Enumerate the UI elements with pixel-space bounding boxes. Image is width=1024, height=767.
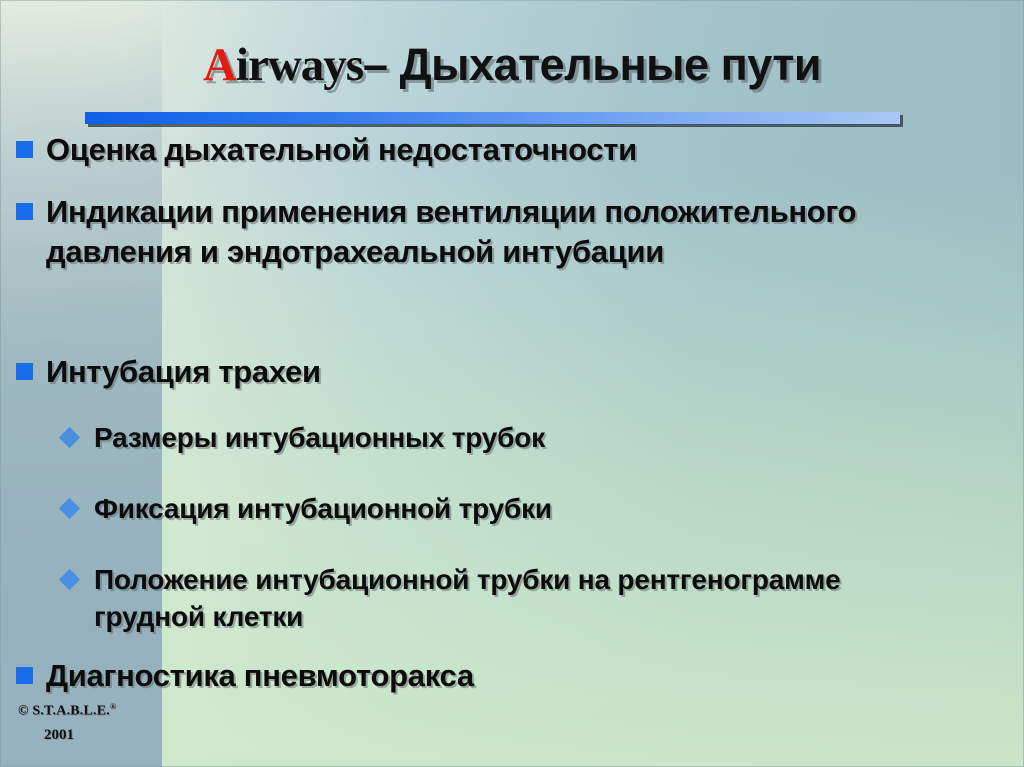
slide-canvas: Airways– Дыхательные пути Оценка дыхател… [0,0,1024,767]
list-item: Оценка дыхательной недостаточности [16,130,976,170]
sub-list-item-label: Размеры интубационных трубок [94,419,545,456]
sub-list-item: Размеры интубационных трубок [62,419,942,456]
list-item-label: Оценка дыхательной недостаточности [46,130,637,170]
square-bullet-icon [16,141,33,158]
sub-list-item-label: Положение интубационной трубки на рентге… [94,561,862,635]
sub-list-item: Фиксация интубационной трубки [62,490,942,527]
title-main-text: Дыхательные пути [400,39,821,90]
square-bullet-icon [16,203,33,220]
list-item-label: Диагностика пневмоторакса [46,656,474,696]
list-item-label: Индикации применения вентиляции положите… [46,192,946,273]
list-item: Индикации применения вентиляции положите… [16,192,946,273]
title-separator: – [363,39,388,90]
title-accent-letter: A [203,39,236,91]
diamond-bullet-icon [59,427,80,448]
copyright-line: © S.T.A.B.L.E.® [18,702,168,720]
title-accent-rest: irways [236,39,363,91]
copyright-name: S.T.A.B.L.E. [32,704,110,719]
list-item: Интубация трахеи [16,352,946,392]
registered-trademark-icon: ® [110,702,116,711]
slide-title: Airways– Дыхательные пути [0,38,1024,92]
copyright-block: © S.T.A.B.L.E.® 2001 [18,702,168,744]
square-bullet-icon [16,363,33,380]
copyright-year: 2001 [44,727,168,744]
diamond-bullet-icon [59,498,80,519]
copyright-symbol: © [18,704,29,719]
list-item-label: Интубация трахеи [46,352,321,392]
square-bullet-icon [16,667,33,684]
title-divider-rule [85,112,900,124]
bullet-list: Оценка дыхательной недостаточности Индик… [0,124,1024,744]
diamond-bullet-icon [59,569,80,590]
list-item: Диагностика пневмоторакса [16,656,946,696]
title-airways-word: Airways [203,39,363,91]
sub-list-item-label: Фиксация интубационной трубки [94,490,552,527]
sub-list-item: Положение интубационной трубки на рентге… [62,561,862,635]
